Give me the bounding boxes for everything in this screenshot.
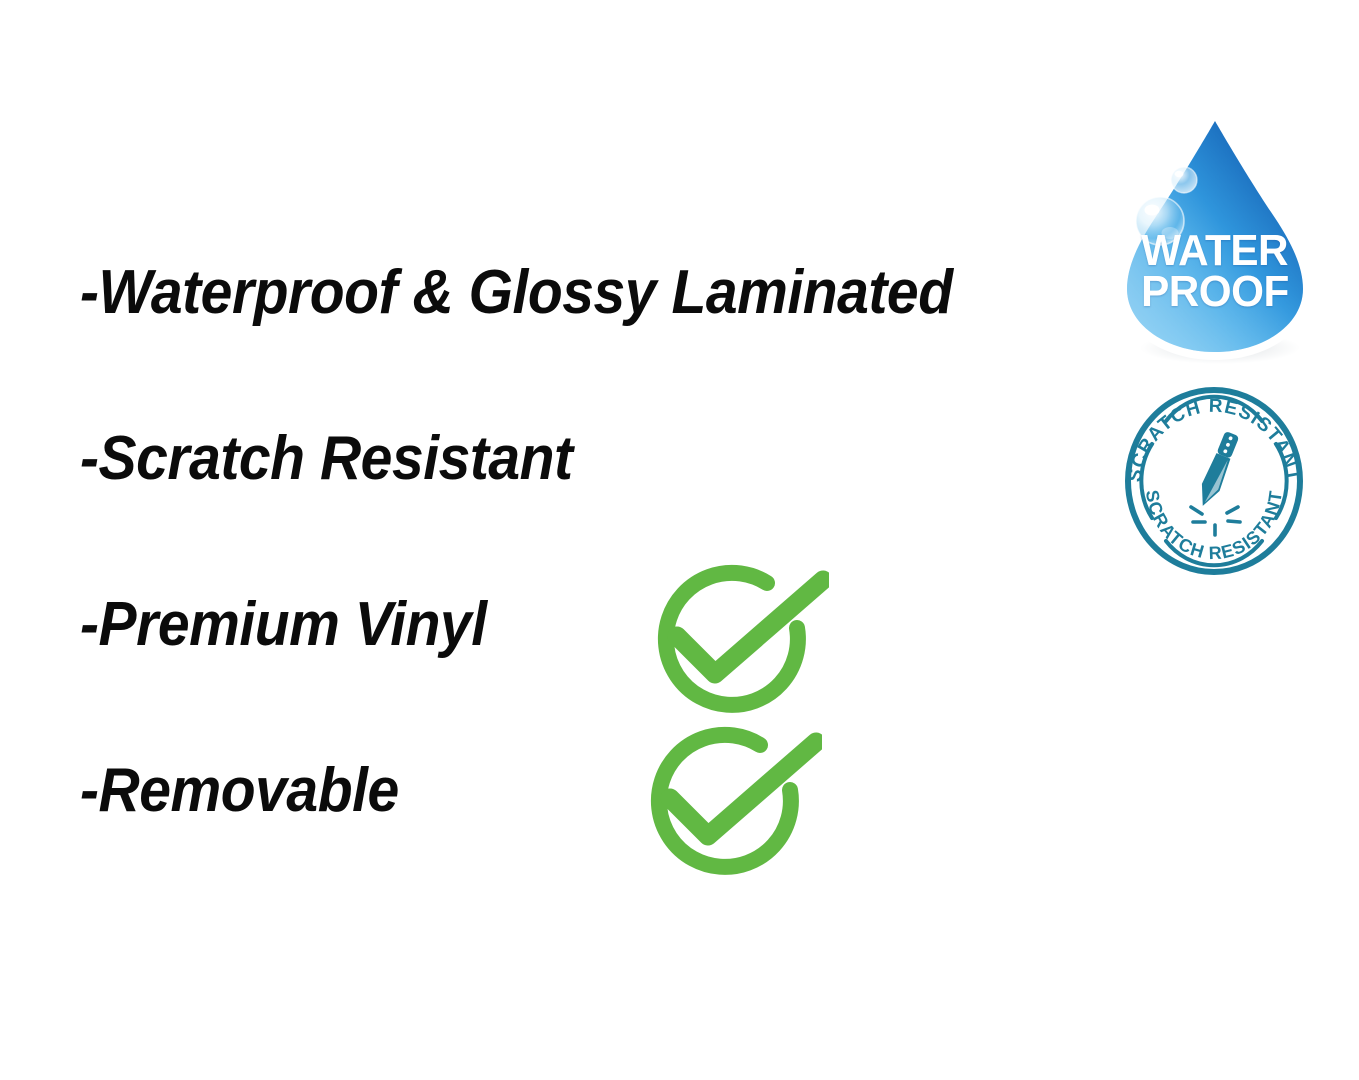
impact-sparks-icon xyxy=(1191,507,1240,535)
bubble-large-highlight-2 xyxy=(1162,227,1179,239)
bubble-large-icon xyxy=(1136,197,1184,245)
product-feature-graphic: -Waterproof & Glossy Laminated -Scratch … xyxy=(0,0,1359,1080)
check-mark-removable xyxy=(632,712,822,902)
bubble-small-highlight xyxy=(1175,171,1184,177)
feature-text-waterproof-glossy-laminated: -Waterproof & Glossy Laminated xyxy=(80,262,953,324)
feature-text-premium-vinyl: -Premium Vinyl xyxy=(80,594,487,656)
scratch-resistant-badge: SCRATCH RESISTANT SCRATCH RESISTANT xyxy=(1110,386,1318,576)
bubble-large-highlight xyxy=(1145,205,1160,216)
waterproof-badge: WATER PROOF xyxy=(1104,104,1326,366)
bubble-small-icon xyxy=(1171,167,1197,193)
feature-text-removable: -Removable xyxy=(80,760,399,822)
knife-icon xyxy=(1194,430,1241,509)
feature-text-scratch-resistant: -Scratch Resistant xyxy=(80,428,573,490)
